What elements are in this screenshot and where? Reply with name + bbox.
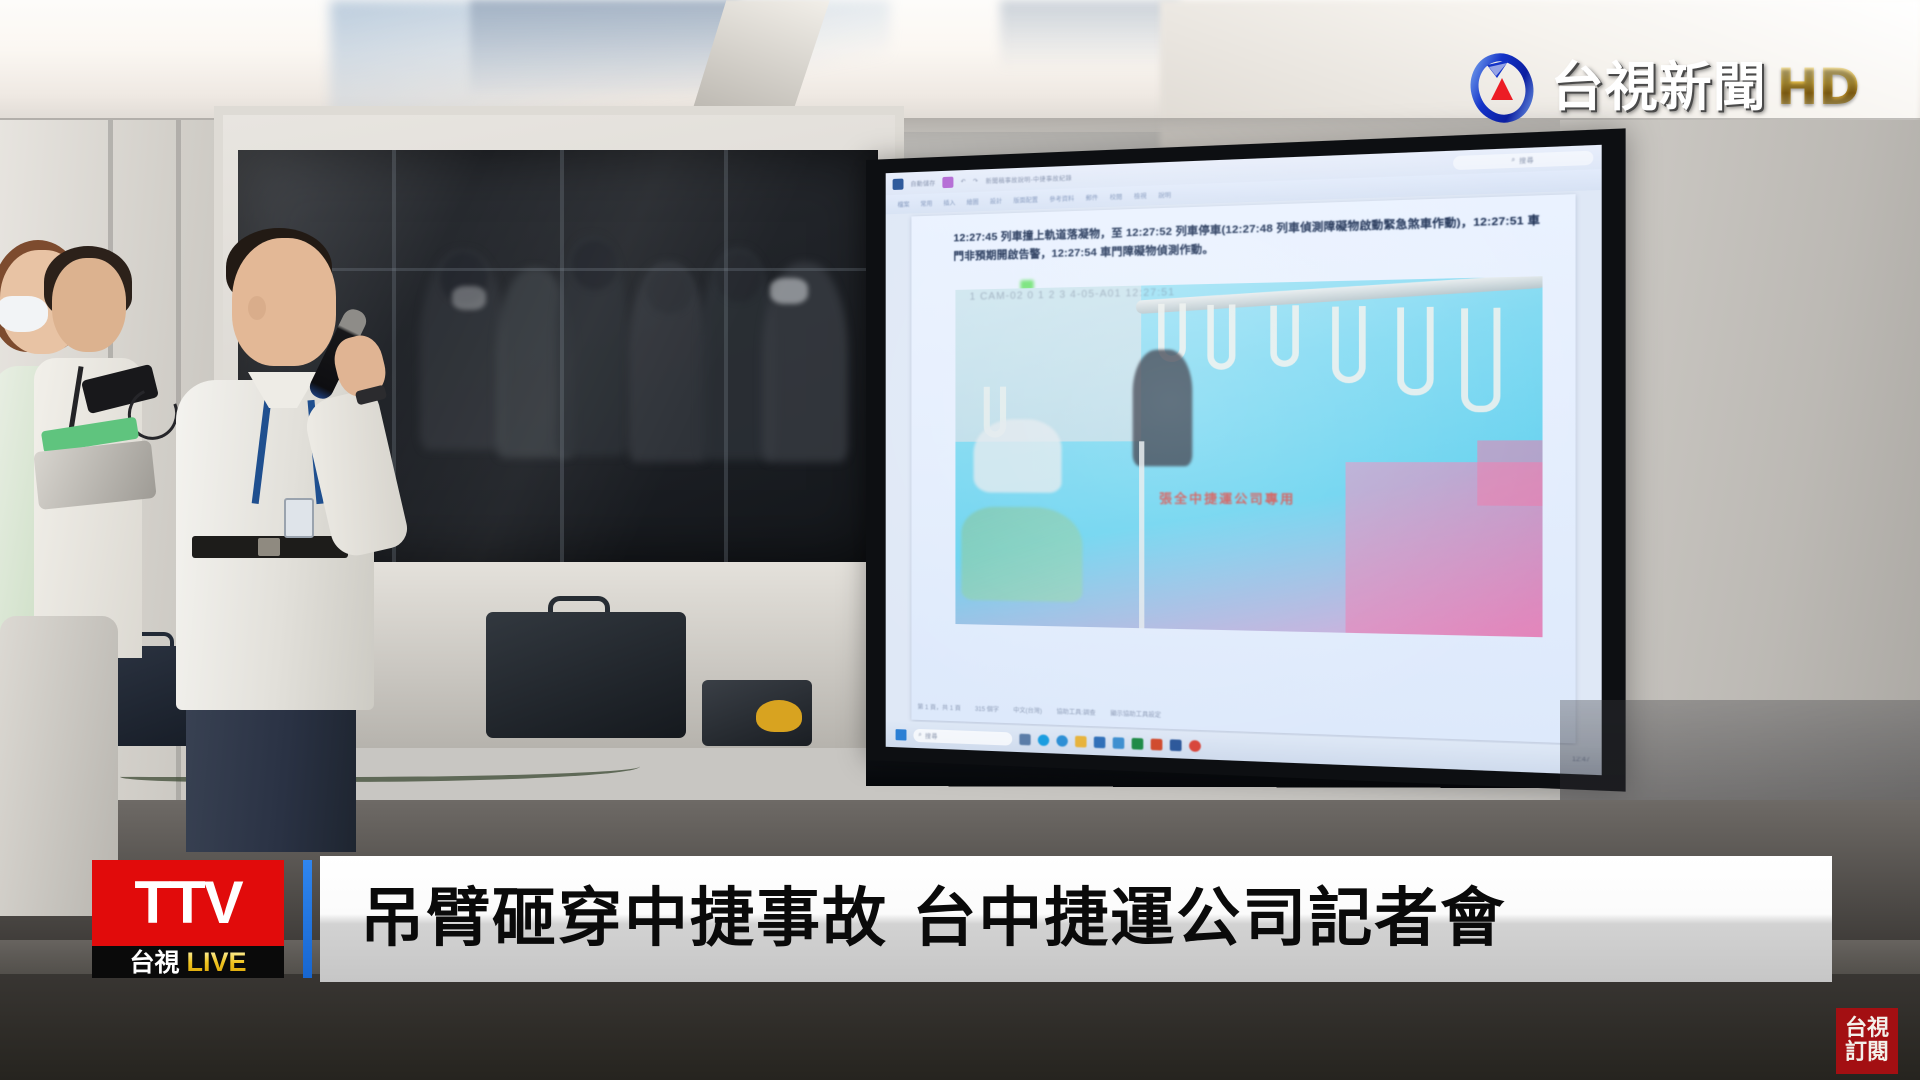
live-label-box: 台視 LIVE (92, 946, 284, 978)
broadcast-frame: 自動儲存 ↶ ↷ 新聞稿事故說明-中捷事故紀錄 ⌕ 搜尋 檔案 常用 插入 繪圖… (0, 0, 1920, 1080)
store-icon[interactable] (1094, 736, 1106, 748)
search-icon: ⌕ (918, 731, 922, 738)
speaker-ear (248, 296, 266, 320)
windows-start-icon[interactable] (896, 729, 907, 740)
ribbon-tab-home[interactable]: 常用 (920, 199, 932, 208)
accent-bar (303, 860, 312, 978)
cctv-grab-pole (1139, 441, 1144, 628)
quality-badge: HD (1777, 62, 1860, 112)
projected-desktop: 自動儲存 ↶ ↷ 新聞稿事故說明-中捷事故紀錄 ⌕ 搜尋 檔案 常用 插入 繪圖… (886, 145, 1602, 775)
status-word-count: 315 個字 (975, 704, 999, 714)
speaker-head (232, 238, 336, 366)
belt-buckle (258, 538, 280, 556)
cctv-watermark: 張全中捷運公司專用 (1110, 489, 1348, 508)
task-view-icon[interactable] (1019, 733, 1030, 745)
chrome-icon[interactable] (1189, 739, 1201, 751)
cctv-door-panel (1477, 440, 1542, 506)
save-icon[interactable] (943, 176, 954, 188)
cctv-hand-strap (1270, 305, 1299, 367)
ribbon-tab-references[interactable]: 參考資料 (1049, 194, 1074, 204)
ribbon-tab-draw[interactable]: 繪圖 (967, 197, 979, 207)
ribbon-tab-view[interactable]: 檢視 (1134, 191, 1147, 201)
redo-icon[interactable]: ↷ (973, 177, 978, 184)
cctv-passenger (974, 419, 1062, 493)
status-accessibility-settings: 顯示協助工具設定 (1110, 708, 1161, 719)
powerpoint-icon[interactable] (1151, 738, 1163, 750)
search-icon: ⌕ (1511, 156, 1515, 164)
headline-text: 吊臂砸穿中捷事故 台中捷運公司記者會 (360, 887, 1506, 951)
edge-icon[interactable] (1038, 734, 1049, 746)
chrome-icon[interactable] (1056, 735, 1067, 747)
ribbon-tab-mailings[interactable]: 郵件 (1086, 193, 1099, 203)
building-silhouette-2 (1000, 0, 1180, 70)
headline-banner: 吊臂砸穿中捷事故 台中捷運公司記者會 (320, 856, 1832, 982)
taskbar-search-placeholder: 搜尋 (925, 731, 938, 741)
network-name: 台視新聞 (1551, 61, 1767, 114)
live-badge: TTV 台視 LIVE (92, 860, 284, 978)
building-silhouette (470, 0, 740, 95)
word-icon[interactable] (1170, 739, 1182, 751)
cctv-seat (961, 507, 1082, 603)
cctv-screenshot: 1 CAM-02 0 1 2 3 4-05-A01 12:27:51 張全中捷運… (955, 276, 1542, 637)
excel-icon[interactable] (1132, 737, 1144, 749)
status-page-count: 第 1 頁，共 1 頁 (917, 702, 960, 713)
projection-screen: 自動儲存 ↶ ↷ 新聞稿事故說明-中捷事故紀錄 ⌕ 搜尋 檔案 常用 插入 繪圖… (866, 128, 1626, 791)
cctv-hand-strap (1332, 306, 1366, 383)
mail-icon[interactable] (1113, 737, 1125, 749)
subscribe-badge[interactable]: 台視 訂閱 (1836, 1008, 1898, 1074)
word-document-page: 12:27:45 列車撞上軌道落凝物，至 12:27:52 列車停車(12:27… (911, 194, 1575, 743)
ribbon-tab-insert[interactable]: 插入 (943, 198, 955, 208)
id-badge (284, 498, 314, 538)
reporter-head (52, 258, 126, 352)
lower-third: TTV 台視 LIVE 吊臂砸穿中捷事故 台中捷運公司記者會 台視 訂閱 (0, 880, 1920, 1080)
document-paragraph: 12:27:45 列車撞上軌道落凝物，至 12:27:52 列車停車(12:27… (953, 210, 1547, 265)
status-accessibility: 協助工具:調查 (1056, 706, 1095, 717)
ribbon-tab-help[interactable]: 說明 (1158, 190, 1171, 200)
autosave-label[interactable]: 自動儲存 (910, 178, 935, 188)
subscribe-line-2: 訂閱 (1845, 1041, 1889, 1065)
equipment-case (486, 612, 686, 738)
ttv-name-cn: 台視 (129, 950, 179, 975)
document-title: 新聞稿事故說明-中捷事故紀錄 (986, 173, 1072, 186)
cctv-hand-strap (1397, 307, 1433, 396)
cctv-hand-strap (1207, 304, 1235, 370)
file-explorer-icon[interactable] (1075, 735, 1086, 747)
status-language: 中文(台灣) (1013, 705, 1042, 715)
live-label: LIVE (187, 949, 247, 976)
search-input[interactable]: ⌕ 搜尋 (1453, 150, 1593, 170)
ttv-callsign-box: TTV (92, 860, 284, 946)
face-mask (0, 296, 48, 332)
search-label: 搜尋 (1519, 155, 1534, 165)
press-gear (33, 440, 156, 510)
network-logo: 台視新聞 HD (1463, 48, 1860, 126)
ribbon-tab-design[interactable]: 設計 (990, 196, 1002, 206)
yellow-equipment (756, 700, 802, 732)
taskbar-search-input[interactable]: ⌕ 搜尋 (913, 728, 1012, 745)
undo-icon[interactable]: ↶ (961, 178, 966, 185)
ribbon-tab-review[interactable]: 校閱 (1110, 192, 1123, 202)
ttv-callsign: TTV (134, 873, 241, 933)
subscribe-line-1: 台視 (1845, 1017, 1889, 1041)
word-icon (893, 178, 904, 189)
cctv-hand-strap (1461, 308, 1500, 413)
ribbon-tab-file[interactable]: 檔案 (898, 199, 910, 208)
ribbon-tab-layout[interactable]: 版面配置 (1013, 195, 1038, 205)
ttv-swirl-logo (1463, 48, 1541, 126)
